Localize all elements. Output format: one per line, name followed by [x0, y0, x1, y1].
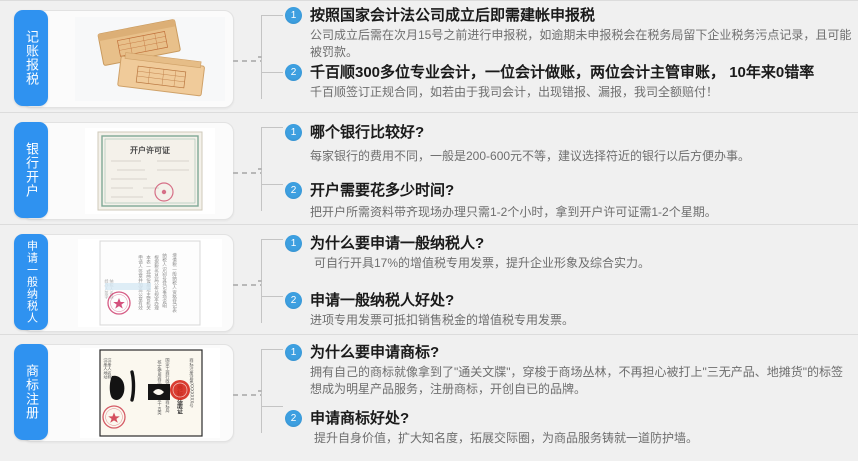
svg-text:开户许可证: 开户许可证	[130, 145, 170, 155]
qa-question: 千百顺300多位专业会计，一位会计做账，两位会计主管审账， 10年来0错率	[310, 64, 814, 82]
connector-arm-2b	[261, 184, 283, 185]
service-image-card-3: 增值税一般纳税人资格登记表 纳税人识别号登记事项说明 根据税务总局公告规定办理 …	[22, 234, 234, 332]
qa-answer: 千百顺签订正规合同，如若由于我司会计，出现错报、漏报，我司全额赔付！	[310, 84, 814, 101]
qa-question: 为什么要申请商标?	[310, 344, 843, 362]
qa-answer: 拥有自己的商标就像拿到了"通关文牒"，穿梭于商场丛林，不再担心被打上"三无产品、…	[310, 364, 843, 398]
service-faq-page: 记账报税 1 按照国家会计法公司成立后即需建帐申报税 公司成立后需在次月15号之…	[0, 0, 858, 461]
qa-number-badge: 1	[285, 344, 302, 361]
section-visual-1: 记账报税	[0, 2, 285, 112]
connector-stub-3	[258, 280, 262, 282]
service-tab-label: 记账报税	[23, 30, 39, 86]
section-visual-4: 商标注册证第XXXXXXX号 国家工商行政管理总局商标局 核定使用商品类别第三十…	[0, 336, 285, 452]
service-image-card-2: 开户许可证	[22, 122, 234, 220]
service-tab-accounting[interactable]: 记账报税	[14, 10, 48, 106]
qa-number-badge: 2	[285, 292, 302, 309]
qa-answer: 提升自身价值，扩大知名度，拓展交际圈，为商品服务铸就一道防护墙。	[314, 430, 698, 447]
svg-text:根据税务总局公告规定办理: 根据税务总局公告规定办理	[154, 254, 159, 311]
qa-item: 2 申请商标好处? 提升自身价值，扩大知名度，拓展交际圈，为商品服务铸就一道防护…	[285, 410, 698, 447]
qa-question: 按照国家会计法公司成立后即需建帐申报税	[310, 7, 858, 25]
service-image-3: 增值税一般纳税人资格登记表 纳税人识别号登记事项说明 根据税务总局公告规定办理 …	[73, 239, 227, 327]
service-tab-label: 申请一般纳税人	[25, 240, 38, 324]
qa-question: 为什么要申请一般纳税人?	[310, 235, 650, 253]
qa-item: 1 为什么要申请一般纳税人? 可自行开具17%的增值税专用发票，提升企业形象及综…	[285, 235, 650, 272]
qa-item: 2 申请一般纳税人好处? 进项专用发票可抵扣销售税金的增值税专用发票。	[285, 292, 574, 329]
svg-text:申请人签章并加盖公章有效: 申请人签章并加盖公章有效	[138, 254, 143, 312]
qa-item: 2 开户需要花多少时间? 把开户所需资料带齐现场办理只需1-2个小时，拿到开户许…	[285, 182, 717, 221]
qa-answer: 把开户所需资料带齐现场办理只需1-2个小时，拿到开户许可证需1-2个星期。	[310, 204, 717, 221]
service-image-4: 商标注册证第XXXXXXX号 国家工商行政管理总局商标局 核定使用商品类别第三十…	[73, 349, 227, 437]
qa-item: 1 哪个银行比较好? 每家银行的费用不同，一般是200-600元不等，建议选择符…	[285, 124, 750, 165]
connector-arm-3a	[261, 239, 283, 240]
qa-question: 申请一般纳税人好处?	[310, 292, 574, 310]
bank-permit-image: 开户许可证	[85, 128, 215, 214]
service-tab-label: 商标注册	[23, 364, 39, 420]
qa-question: 申请商标好处?	[310, 410, 698, 428]
connector-dashed-4	[233, 394, 261, 396]
service-tab-trademark[interactable]: 商标注册	[14, 344, 48, 440]
svg-text:商标注册证第XXXXXXX号: 商标注册证第XXXXXXX号	[189, 357, 195, 409]
connector-arm-2a	[261, 127, 283, 128]
service-image-2: 开户许可证	[73, 127, 227, 215]
section-visual-2: 开户许可证 银行开户	[0, 114, 285, 224]
svg-text:注册人地址: 注册人地址	[103, 357, 109, 380]
service-image-1	[73, 15, 227, 103]
connector-stub-4	[258, 390, 262, 392]
qa-answer: 每家银行的费用不同，一般是200-600元不等，建议选择符近的银行以后方便办事。	[310, 148, 750, 165]
connector-stub-1	[258, 56, 262, 58]
connector-dashed-1	[233, 60, 261, 62]
connector-arm-1b	[261, 72, 283, 73]
connector-arm-3b	[261, 296, 283, 297]
connector-arm-1a	[261, 15, 283, 16]
qa-question: 哪个银行比较好?	[310, 124, 750, 142]
connector-dashed-2	[233, 172, 261, 174]
qa-number-badge: 2	[285, 410, 302, 427]
qa-number-badge: 1	[285, 7, 302, 24]
svg-text:本表一式两份报送主管机关: 本表一式两份报送主管机关	[146, 254, 151, 312]
svg-text:增值税一般纳税人资格登记表: 增值税一般纳税人资格登记表	[172, 252, 177, 314]
section-divider-top	[0, 0, 858, 1]
qa-number-badge: 2	[285, 182, 302, 199]
qa-item: 2 千百顺300多位专业会计，一位会计做账，两位会计主管审账， 10年来0错率 …	[285, 64, 814, 101]
service-tab-bank-account[interactable]: 银行开户	[14, 122, 48, 218]
qa-answer: 公司成立后需在次月15号之前进行申报税，如逾期未申报税会在税务局留下企业税务污点…	[310, 27, 858, 61]
service-image-card-4: 商标注册证第XXXXXXX号 国家工商行政管理总局商标局 核定使用商品类别第三十…	[22, 344, 234, 442]
service-tab-label: 银行开户	[23, 142, 39, 198]
section-divider-2	[0, 224, 858, 225]
qa-item: 1 为什么要申请商标? 拥有自己的商标就像拿到了"通关文牒"，穿梭于商场丛林，不…	[285, 344, 843, 398]
qa-number-badge: 2	[285, 64, 302, 81]
connector-arm-4a	[261, 349, 283, 350]
service-tab-general-taxpayer[interactable]: 申请一般纳税人	[14, 234, 48, 330]
qa-item: 1 按照国家会计法公司成立后即需建帐申报税 公司成立后需在次月15号之前进行申报…	[285, 7, 858, 61]
connector-arm-4b	[261, 406, 283, 407]
qa-answer: 进项专用发票可抵扣销售税金的增值税专用发票。	[310, 312, 574, 329]
qa-number-badge: 1	[285, 124, 302, 141]
section-divider-3	[0, 334, 858, 335]
section-visual-3: 增值税一般纳税人资格登记表 纳税人识别号登记事项说明 根据税务总局公告规定办理 …	[0, 226, 285, 334]
section-divider-1	[0, 112, 858, 113]
service-image-card-1	[22, 10, 234, 108]
qa-number-badge: 1	[285, 235, 302, 252]
qa-answer: 可自行开具17%的增值税专用发票，提升企业形象及综合实力。	[314, 255, 650, 272]
accounting-envelope-image	[75, 17, 225, 101]
connector-stub-2	[258, 168, 262, 170]
svg-text:纳税人识别号登记事项说明: 纳税人识别号登记事项说明	[162, 252, 167, 310]
trademark-certificate-image: 商标注册证第XXXXXXX号 国家工商行政管理总局商标局 核定使用商品类别第三十…	[80, 348, 220, 438]
connector-dashed-3	[233, 284, 261, 286]
qa-question: 开户需要花多少时间?	[310, 182, 717, 200]
taxpayer-certificate-image: 增值税一般纳税人资格登记表 纳税人识别号登记事项说明 根据税务总局公告规定办理 …	[78, 239, 222, 327]
